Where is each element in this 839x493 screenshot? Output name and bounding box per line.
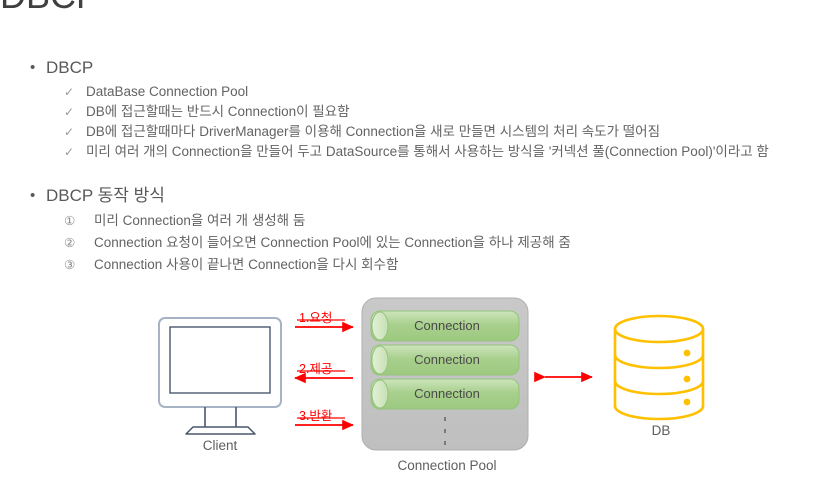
list-item-label: 미리 Connection을 여러 개 생성해 둠 <box>94 213 305 228</box>
list-item: ✓ DataBase Connection Pool <box>0 82 839 102</box>
number-marker-icon: ① <box>64 210 75 232</box>
check-marker-icon: ✓ <box>64 82 74 102</box>
flow-arrow-2-label: 2.제공 <box>299 358 332 377</box>
list-item: ② Connection 요청이 들어오면 Connection Pool에 있… <box>0 232 839 254</box>
list-item: ✓ DB에 접근할때는 반드시 Connection이 필요함 <box>0 102 839 122</box>
connection-cylinder-label: Connection <box>372 318 522 333</box>
section-spacer <box>0 162 839 184</box>
section-heading-dbcp-flow: • DBCP 동작 방식 <box>0 184 839 208</box>
list-item: ① 미리 Connection을 여러 개 생성해 둠 <box>0 210 839 232</box>
section-heading-text: DBCP <box>46 58 93 77</box>
section-heading-dbcp: • DBCP <box>0 56 839 80</box>
number-marker-icon: ② <box>64 232 75 254</box>
list-item: ③ Connection 사용이 끝나면 Connection을 다시 회수함 <box>0 254 839 276</box>
database-label: DB <box>606 423 716 438</box>
flow-arrow-3-label: 3.반환 <box>299 405 332 424</box>
list-item-label: DataBase Connection Pool <box>86 84 248 99</box>
list-item-label: DB에 접근할때마다 DriverManager를 이용해 Connection… <box>86 124 660 139</box>
ellipsis-dots-icon <box>444 417 446 445</box>
number-marker-icon: ③ <box>64 254 75 276</box>
database-icon <box>615 316 703 419</box>
client-monitor-icon <box>159 318 281 434</box>
check-marker-icon: ✓ <box>64 122 74 142</box>
list-item-label: Connection 요청이 들어오면 Connection Pool에 있는 … <box>94 235 571 250</box>
check-marker-icon: ✓ <box>64 142 74 162</box>
list-item: ✓ 미리 여러 개의 Connection을 만들어 두고 DataSource… <box>0 142 839 162</box>
page-title: DBCP <box>0 0 100 16</box>
list-item-label: 미리 여러 개의 Connection을 만들어 두고 DataSource를 … <box>86 144 769 159</box>
check-marker-icon: ✓ <box>64 102 74 122</box>
flow-arrow-1-label: 1.요청 <box>299 307 332 326</box>
slide-body: • DBCP ✓ DataBase Connection Pool ✓ DB에 … <box>0 56 839 276</box>
bullet-marker-icon: • <box>30 184 35 208</box>
list-item-label: Connection 사용이 끝나면 Connection을 다시 회수함 <box>94 257 398 272</box>
section-heading-text: DBCP 동작 방식 <box>46 186 165 205</box>
connection-pool-label: Connection Pool <box>382 458 512 473</box>
connection-cylinder-label: Connection <box>372 352 522 367</box>
list-item: ✓ DB에 접근할때마다 DriverManager를 이용해 Connecti… <box>0 122 839 142</box>
list-item-label: DB에 접근할때는 반드시 Connection이 필요함 <box>86 104 350 119</box>
bullet-marker-icon: • <box>30 56 35 80</box>
client-label: Client <box>160 438 280 453</box>
connection-cylinder-label: Connection <box>372 386 522 401</box>
